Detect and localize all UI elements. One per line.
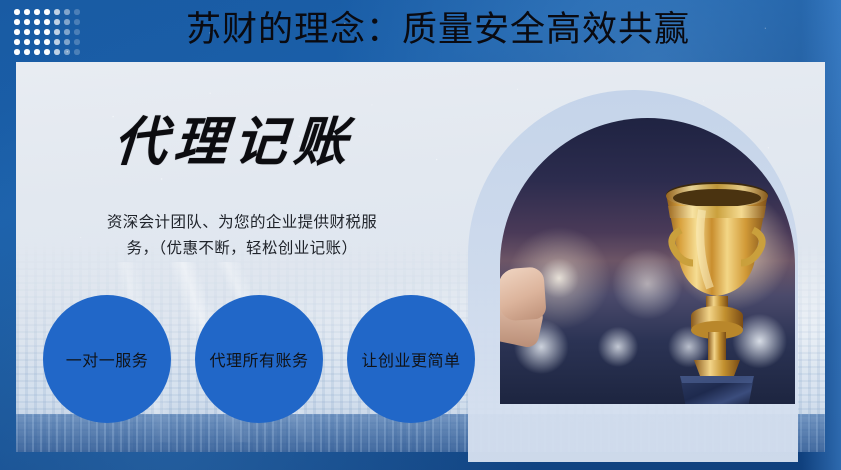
header-band: 苏财的理念：质量安全高效共赢 (0, 0, 841, 62)
feature-circle-1[interactable]: 一对一服务 (43, 295, 171, 423)
dot-grid-icon (14, 9, 84, 59)
trophy-held-aloft-photo (500, 118, 795, 404)
hand-shape (500, 266, 547, 321)
feature-circle-3[interactable]: 让创业更简单 (347, 295, 475, 423)
headline-title: 代理记账 (112, 112, 356, 174)
feature-circle-group: 一对一服务 代理所有账务 让创业更简单 (43, 295, 483, 423)
feature-circle-2[interactable]: 代理所有账务 (195, 295, 323, 423)
feature-circle-1-label: 一对一服务 (66, 347, 149, 371)
subtitle-line-1: 资深会计团队、为您的企业提供财税服 (44, 210, 440, 236)
subtitle-line-2: 务，（优惠不断，轻松创业记账） (44, 236, 440, 262)
subtitle-text: 资深会计团队、为您的企业提供财税服 务，（优惠不断，轻松创业记账） (44, 210, 440, 262)
feature-circle-3-label: 让创业更简单 (361, 347, 460, 371)
media-arch-group (462, 62, 825, 452)
trophy-icon (642, 180, 792, 404)
slide-canvas: 苏财的理念：质量安全高效共赢 (0, 0, 841, 470)
feature-circle-2-label: 代理所有账务 (209, 347, 308, 371)
page-title: 苏财的理念：质量安全高效共赢 (186, 6, 690, 54)
